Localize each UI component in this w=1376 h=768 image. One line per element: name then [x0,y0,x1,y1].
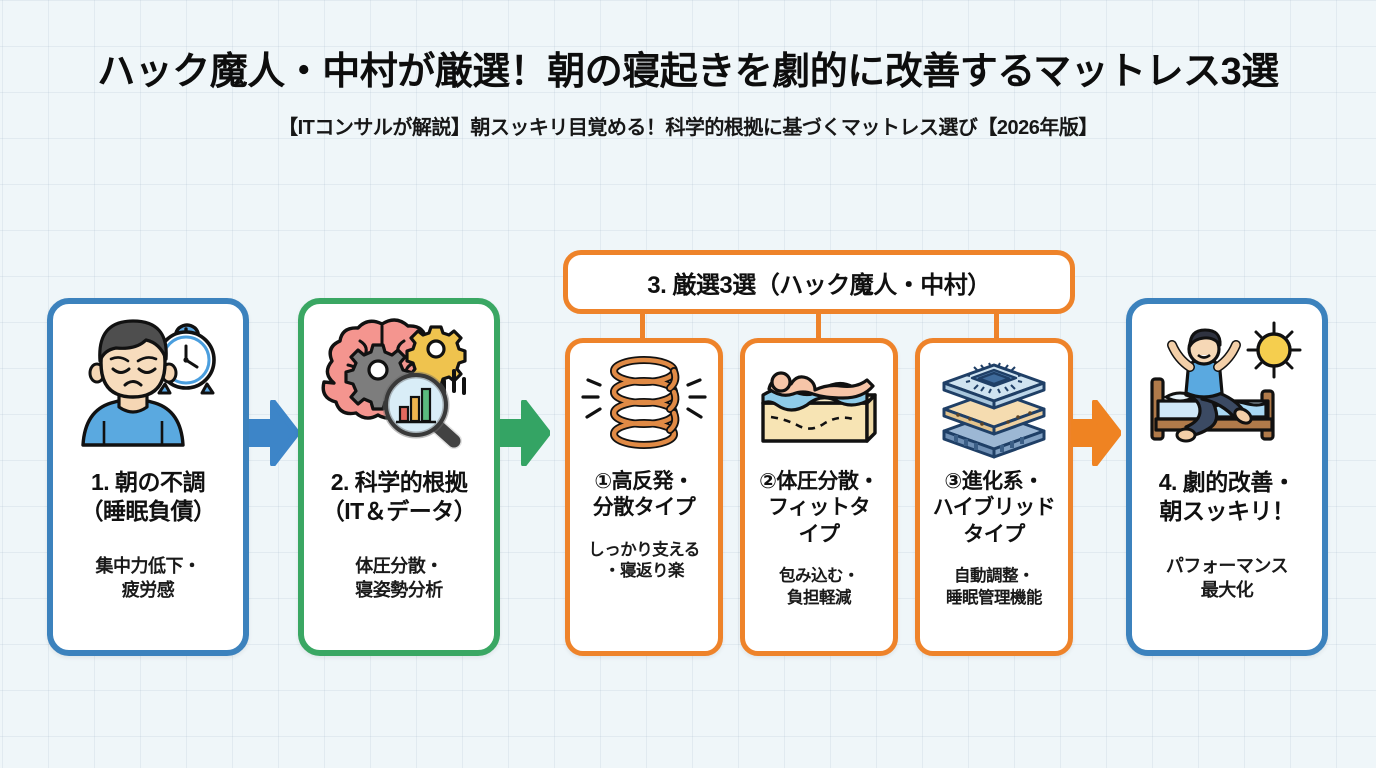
group-desc-line1: しっかり支える [588,540,700,561]
group-desc-line1: 自動調整・ [946,566,1042,587]
page-title: ハック魔人・中村が厳選！朝の寝起きを劇的に改善するマットレス3選 [0,52,1376,94]
group-title-line1: ②体圧分散・ [759,469,879,495]
group-card-desc: しっかり支える ・寝返り楽 [584,540,704,583]
stage-title-line1: 4. 劇的改善・ [1159,468,1296,497]
group-card-high-resilience[interactable]: ①高反発・ 分散タイプ しっかり支える ・寝返り楽 [565,338,723,656]
layered-smart-mattress-chip-icon [920,343,1068,459]
coil-spring-icon [570,343,718,459]
stage-desc-line1: 集中力低下・ [96,555,201,579]
person-waking-up-bed-sun-icon [1132,304,1322,454]
arrow-stage1-to-stage2 [249,400,299,471]
arrow-stage2-to-group [500,400,550,471]
tired-person-alarm-clock-icon [53,304,243,454]
group-title: 3. 厳選3選（ハック魔人・中村） [647,265,991,300]
group-desc-line1: 包み込む・ [779,566,859,587]
group-desc-line2: ・寝返り楽 [588,561,700,582]
group-title-line2: ハイブリッド [933,495,1056,521]
stage-desc-line1: パフォーマンス [1166,555,1288,579]
stage-title-line2: （IT＆データ） [322,497,476,526]
group-title-line2: フィットタ [759,495,879,521]
stage-title-line2: （睡眠負債） [81,497,216,526]
stage-card-title: 2. 科学的根拠 （IT＆データ） [316,468,482,527]
group-desc-line2: 負担軽減 [779,588,859,609]
brain-gears-magnifier-chart-icon [304,304,494,454]
stage-card-desc: 体圧分散・ 寝姿勢分析 [351,555,447,603]
stage-desc-line2: 最大化 [1166,579,1288,603]
stage-title-line1: 2. 科学的根拠 [322,468,476,497]
stage-desc-line2: 疲労感 [96,579,201,603]
group-title-line1: ③進化系・ [933,469,1056,495]
stage-title-line2: 朝スッキリ！ [1159,497,1296,526]
arrow-group-to-stage4 [1071,400,1121,471]
infographic-page: ハック魔人・中村が厳選！朝の寝起きを劇的に改善するマットレス3選 【ITコンサル… [0,0,1376,768]
stage-card-title: 1. 朝の不調 （睡眠負債） [75,468,222,527]
stage-card-title: 4. 劇的改善・ 朝スッキリ！ [1153,468,1302,527]
stage-card-dramatic-improvement[interactable]: 4. 劇的改善・ 朝スッキリ！ パフォーマンス 最大化 [1126,298,1328,656]
header: ハック魔人・中村が厳選！朝の寝起きを劇的に改善するマットレス3選 【ITコンサル… [0,52,1376,140]
stage-card-desc: パフォーマンス 最大化 [1162,555,1292,603]
stage-card-morning-trouble[interactable]: 1. 朝の不調 （睡眠負債） 集中力低下・ 疲労感 [47,298,249,656]
group-desc-line2: 睡眠管理機能 [946,588,1042,609]
group-card-hybrid-smart[interactable]: ③進化系・ ハイブリッド タイプ 自動調整・ 睡眠管理機能 [915,338,1073,656]
stage-title-line1: 1. 朝の不調 [81,468,216,497]
group-title-line3: イプ [759,522,879,548]
group-title-line1: ①高反発・ [593,469,696,495]
group-title-line3: タイプ [933,522,1056,548]
stage-card-scientific-basis[interactable]: 2. 科学的根拠 （IT＆データ） 体圧分散・ 寝姿勢分析 [298,298,500,656]
group-card-title: ②体圧分散・ フィットタ イプ [753,469,885,548]
group-header-selected-three[interactable]: 3. 厳選3選（ハック魔人・中村） [563,250,1075,314]
stage-desc-line2: 寝姿勢分析 [355,579,443,603]
group-card-title: ①高反発・ 分散タイプ [587,469,702,522]
group-card-desc: 包み込む・ 負担軽減 [775,566,863,609]
group-card-title: ③進化系・ ハイブリッド タイプ [927,469,1062,548]
stage-desc-line1: 体圧分散・ [355,555,443,579]
stage-card-desc: 集中力低下・ 疲労感 [92,555,205,603]
body-on-foam-mattress-icon [745,343,893,459]
group-card-desc: 自動調整・ 睡眠管理機能 [942,566,1046,609]
page-subtitle: 【ITコンサルが解説】朝スッキリ目覚める！科学的根拠に基づくマットレス選び【20… [0,111,1376,140]
group-card-pressure-dispersion[interactable]: ②体圧分散・ フィットタ イプ 包み込む・ 負担軽減 [740,338,898,656]
group-title-line2: 分散タイプ [593,495,696,521]
